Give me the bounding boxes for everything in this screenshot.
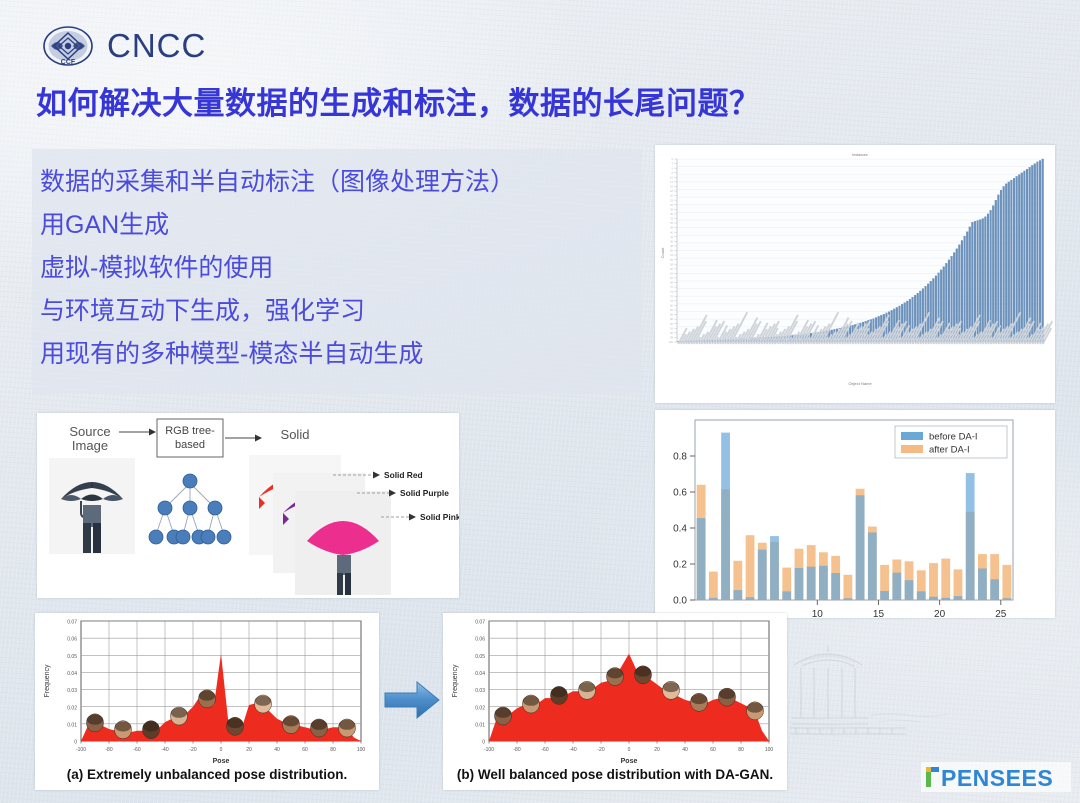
cncc-logo: CCF CNCC [42, 20, 206, 72]
svg-text:0.04: 0.04 [475, 671, 485, 677]
svg-text:0.05: 0.05 [67, 654, 77, 660]
pensees-logo: PENSEES [921, 762, 1071, 792]
pose-distribution-a-card: 00.010.020.030.040.050.060.07-100-80-60-… [35, 613, 379, 790]
svg-text:0.06: 0.06 [475, 637, 485, 643]
source-umbrella-photo [49, 458, 135, 554]
cncc-emblem-ccf-text: CCF [61, 59, 76, 66]
recolor-pipeline-diagram: Source Image RGB tree- based Solid [37, 413, 459, 598]
svg-text:60: 60 [302, 747, 308, 753]
svg-text:-60: -60 [133, 747, 140, 753]
pose-distribution-b-card: 00.010.020.030.040.050.060.07-100-80-60-… [443, 613, 787, 790]
longtail-xaxis-label: Object Name [848, 381, 872, 386]
bullet-item: 用现有的多种模型-模态半自动生成 [40, 333, 626, 376]
pose-distribution-a-chart: 00.010.020.030.040.050.060.07-100-80-60-… [35, 613, 379, 790]
svg-text:0.07: 0.07 [475, 620, 485, 626]
output-label-solid-purple: Solid Purple [400, 488, 449, 498]
pensees-wordmark-text: PENSEES [941, 765, 1053, 791]
pipeline-source-label-line2: Image [72, 438, 108, 453]
svg-text:0.8: 0.8 [673, 452, 687, 463]
legend-swatch-after [901, 445, 923, 453]
svg-text:60: 60 [710, 747, 716, 753]
bullet-panel: 数据的采集和半自动标注（图像处理方法） 用GAN生成 虚拟-模拟软件的使用 与环… [32, 149, 642, 394]
svg-text:-80: -80 [513, 747, 520, 753]
pipeline-process-label-line2: based [175, 439, 205, 451]
cncc-wordmark: CNCC [107, 27, 206, 65]
svg-text:0.04: 0.04 [67, 671, 77, 677]
pose-distribution-b-chart: 00.010.020.030.040.050.060.07-100-80-60-… [443, 613, 787, 790]
bullet-item: 虚拟-模拟软件的使用 [40, 247, 626, 290]
svg-text:100: 100 [765, 747, 774, 753]
svg-text:-40: -40 [161, 747, 168, 753]
svg-text:0.4: 0.4 [673, 524, 687, 535]
svg-text:15: 15 [873, 609, 885, 618]
svg-text:0.01: 0.01 [475, 722, 485, 728]
slide-canvas: CCF CNCC 如何解决大量数据的生成和标注，数据的长尾问题？ 数据的采集和半… [0, 0, 1080, 803]
pose-xaxis-label: Pose [621, 758, 638, 765]
pose-yaxis-label: Frequency [452, 664, 459, 698]
svg-text:0.03: 0.03 [67, 688, 77, 694]
pipeline-output-label: Solid [281, 427, 310, 442]
bullet-item: 用GAN生成 [40, 204, 626, 247]
pose-chart-caption: (b) Well balanced pose distribution with… [457, 767, 773, 782]
pipeline-process-label-line1: RGB tree- [165, 425, 215, 437]
pose-xaxis-label: Pose [213, 758, 230, 765]
pose-yaxis-label: Frequency [44, 664, 51, 698]
svg-text:0: 0 [482, 740, 485, 746]
longtail-chart-title: Instances [852, 153, 868, 157]
svg-text:0.2: 0.2 [673, 560, 687, 571]
svg-text:0: 0 [628, 747, 631, 753]
output-label-solid-pink: Solid Pink [420, 512, 459, 522]
bullet-item: 与环境互动下生成，强化学习 [40, 290, 626, 333]
longtail-chart-card: Instances 100989593908885838078757370686… [655, 145, 1055, 403]
svg-text:-100: -100 [484, 747, 494, 753]
longtail-chart: Instances 100989593908885838078757370686… [655, 145, 1055, 403]
svg-text:0.03: 0.03 [475, 688, 485, 694]
svg-text:0.05: 0.05 [475, 654, 485, 660]
recolor-pipeline-card: Source Image RGB tree- based Solid [37, 413, 459, 598]
svg-text:-60: -60 [541, 747, 548, 753]
svg-text:10: 10 [812, 609, 824, 618]
svg-text:0.01: 0.01 [67, 722, 77, 728]
svg-text:0.02: 0.02 [475, 705, 485, 711]
flow-arrow-icon [383, 678, 441, 722]
da-comparison-chart: 0.00.20.40.60.8 10152025 before DA-I aft… [655, 410, 1055, 618]
svg-text:40: 40 [682, 747, 688, 753]
svg-text:80: 80 [330, 747, 336, 753]
svg-text:-20: -20 [597, 747, 604, 753]
svg-text:20: 20 [934, 609, 946, 618]
svg-text:0.0: 0.0 [673, 596, 687, 607]
longtail-yaxis-label: Count [660, 247, 665, 259]
svg-text:-80: -80 [105, 747, 112, 753]
legend-label-before: before DA-I [929, 432, 978, 443]
svg-text:0.6: 0.6 [673, 488, 687, 499]
svg-text:-40: -40 [569, 747, 576, 753]
svg-text:-20: -20 [189, 747, 196, 753]
svg-text:0: 0 [220, 747, 223, 753]
svg-text:-100: -100 [76, 747, 86, 753]
svg-text:0.07: 0.07 [67, 620, 77, 626]
svg-text:20: 20 [654, 747, 660, 753]
da-comparison-chart-card: 0.00.20.40.60.8 10152025 before DA-I aft… [655, 410, 1055, 618]
output-label-solid-red: Solid Red [384, 470, 423, 480]
cncc-emblem-icon: CCF [42, 20, 94, 72]
svg-text:0: 0 [74, 740, 77, 746]
svg-text:0.06: 0.06 [67, 637, 77, 643]
bullet-item: 数据的采集和半自动标注（图像处理方法） [40, 161, 626, 204]
svg-text:25: 25 [995, 609, 1007, 618]
pose-chart-caption: (a) Extremely unbalanced pose distributi… [67, 767, 348, 782]
pavilion-watermark-icon [788, 630, 1003, 760]
svg-text:0.02: 0.02 [67, 705, 77, 711]
legend-label-after: after DA-I [929, 445, 970, 456]
pipeline-source-label-line1: Source [69, 424, 110, 439]
svg-text:40: 40 [274, 747, 280, 753]
page-title: 如何解决大量数据的生成和标注，数据的长尾问题？ [36, 78, 761, 123]
legend-swatch-before [901, 432, 923, 440]
svg-text:80: 80 [738, 747, 744, 753]
svg-text:100: 100 [357, 747, 366, 753]
svg-text:20: 20 [246, 747, 252, 753]
svg-text:100: 100 [669, 340, 674, 344]
